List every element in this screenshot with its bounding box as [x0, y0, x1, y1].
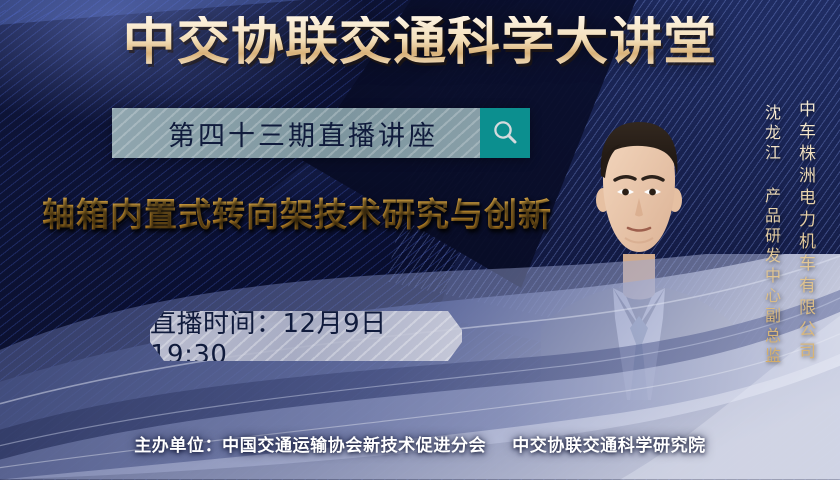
organizer-primary: 主办单位：中国交通运输协会新技术促进分会: [134, 436, 486, 456]
broadcast-time-text: 直播时间：12月9日19:30: [150, 303, 462, 370]
session-banner: 第四十三期直播讲座: [112, 108, 530, 158]
search-icon: [490, 118, 520, 148]
session-label: 第四十三期直播讲座: [112, 108, 480, 158]
page-title: 中交协联交通科学大讲堂: [0, 16, 840, 68]
broadcast-time-badge: 直播时间：12月9日19:30: [150, 311, 462, 361]
speaker-name-role: 沈龙江 产品研发中心副总监: [759, 104, 783, 367]
speaker-company: 中车株洲电力机车有限公司: [793, 100, 818, 364]
organizer-secondary: 中交协联交通科学研究院: [512, 436, 706, 456]
search-icon-box[interactable]: [480, 108, 530, 158]
lecture-topic: 轴箱内置式转向架技术研究与创新: [42, 196, 552, 234]
organizers-footer: 主办单位：中国交通运输协会新技术促进分会中交协联交通科学研究院: [0, 431, 840, 456]
webinar-poster: 中交协联交通科学大讲堂 第四十三期直播讲座 轴箱内置式转向架技术研究与创新 直播…: [0, 0, 840, 480]
